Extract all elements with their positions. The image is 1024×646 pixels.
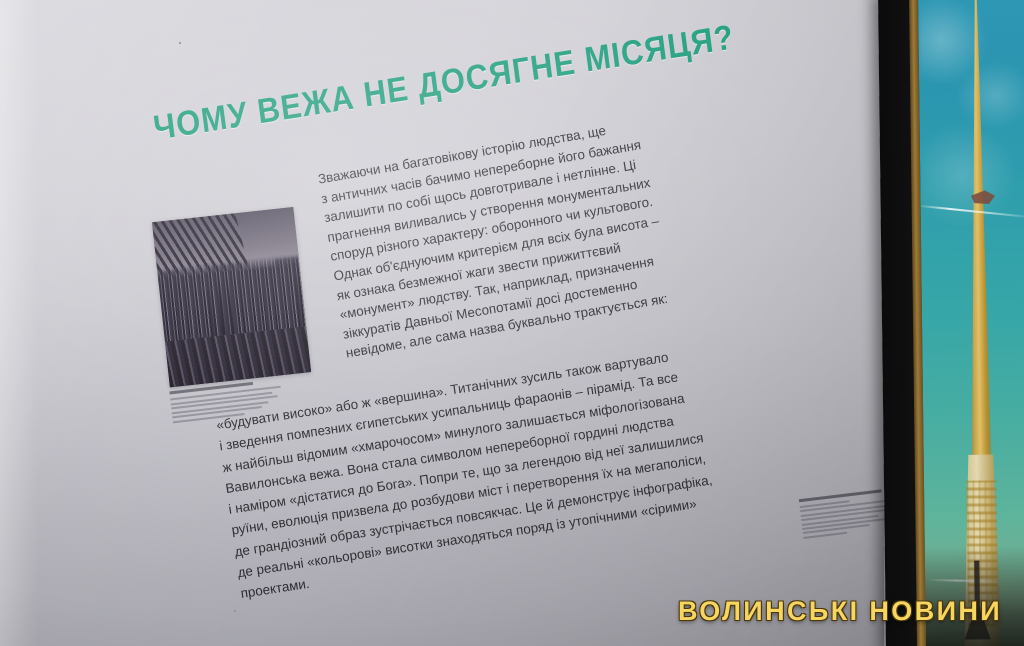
- photo-scene: ЧОМУ ВЕЖА НЕ ДОСЯГНЕ МІСЯЦЯ? Зважаючи на…: [0, 0, 1024, 646]
- painting-canvas: [918, 0, 1024, 646]
- wall-panel-content: ЧОМУ ВЕЖА НЕ ДОСЯГНЕ МІСЯЦЯ? Зважаючи на…: [0, 0, 910, 646]
- picture-frame: [878, 0, 1024, 646]
- dust-speck: [234, 610, 236, 612]
- illustration-city-engraving: [152, 207, 311, 387]
- body-text-top: Зважаючи на багатовікову історію людства…: [317, 102, 744, 363]
- body-text-bottom: «будувати високо» або ж «вершина». Титан…: [215, 334, 776, 604]
- painting-bottom-shadow: [925, 546, 1024, 646]
- painting-clouds: [918, 0, 1024, 389]
- dust-speck: [179, 42, 181, 44]
